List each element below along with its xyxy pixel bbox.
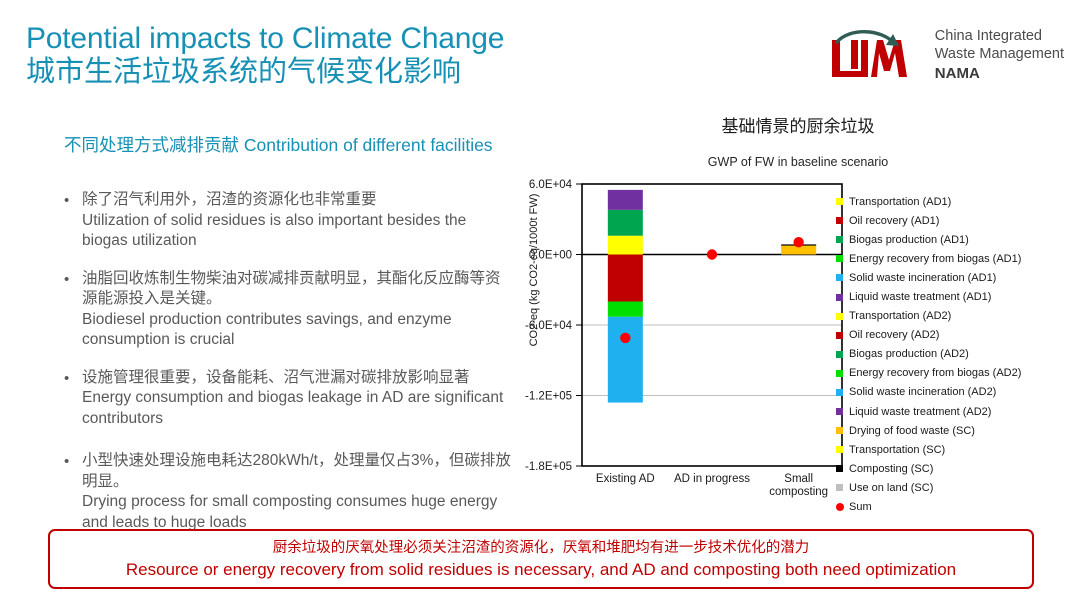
sum-marker-point bbox=[707, 249, 717, 259]
legend-item[interactable]: Solid waste incineration (AD2) bbox=[836, 383, 1068, 402]
bullet-text-en: Biodiesel production contributes savings… bbox=[82, 310, 512, 351]
page-title-en: Potential impacts to Climate Change bbox=[26, 22, 504, 56]
legend-label: Composting (SC) bbox=[849, 463, 933, 475]
chart-panel: 基础情景的厨余垃圾 GWP of FW in baseline scenario… bbox=[498, 104, 1068, 516]
bullet-text: 除了沼气利用外，沼渣的资源化也非常重要 Utilization of solid… bbox=[82, 190, 512, 252]
logo-line-1: China Integrated bbox=[935, 27, 1064, 46]
y-axis-tick-label: -1.8E+05 bbox=[525, 461, 572, 473]
section-heading: 不同处理方式减排贡献 Contribution of different fac… bbox=[64, 132, 493, 157]
bar-segment bbox=[608, 302, 643, 317]
legend-swatch-icon bbox=[836, 465, 843, 472]
legend-swatch-icon bbox=[836, 332, 843, 339]
legend-swatch-icon bbox=[836, 313, 843, 320]
legend-label: Transportation (AD2) bbox=[849, 310, 951, 322]
legend-item[interactable]: Solid waste incineration (AD1) bbox=[836, 268, 1068, 287]
legend-swatch-icon bbox=[836, 408, 843, 415]
legend-item[interactable]: Biogas production (AD2) bbox=[836, 345, 1068, 364]
legend-item[interactable]: Oil recovery (AD1) bbox=[836, 211, 1068, 230]
iwm-logo-mark-icon bbox=[815, 24, 925, 86]
legend-label: Transportation (AD1) bbox=[849, 196, 951, 208]
legend-label: Solid waste incineration (AD1) bbox=[849, 272, 996, 284]
bullet-text-zh: 除了沼气利用外，沼渣的资源化也非常重要 bbox=[82, 190, 512, 211]
bullet-text-en: Energy consumption and biogas leakage in… bbox=[82, 388, 512, 429]
bar-segment bbox=[608, 255, 643, 302]
legend-swatch-icon bbox=[836, 484, 843, 491]
legend-swatch-icon bbox=[836, 217, 843, 224]
page-title: Potential impacts to Climate Change 城市生活… bbox=[26, 22, 504, 88]
bullet-text-en: Drying process for small composting cons… bbox=[82, 492, 512, 533]
bullet-marker: • bbox=[60, 451, 82, 533]
legend-swatch-icon bbox=[836, 370, 843, 377]
bullet-text-zh: 设施管理很重要，设备能耗、沼气泄漏对碳排放影响显著 bbox=[82, 368, 512, 389]
legend-sum-marker-icon bbox=[836, 503, 844, 511]
sum-marker-point bbox=[793, 237, 803, 247]
bullet-text-en: Utilization of solid residues is also im… bbox=[82, 211, 512, 252]
bullet-text: 设施管理很重要，设备能耗、沼气泄漏对碳排放影响显著 Energy consump… bbox=[82, 368, 512, 430]
bar-segment bbox=[608, 210, 643, 236]
logo-line-3: NAMA bbox=[935, 64, 1064, 83]
chart-title: GWP of FW in baseline scenario bbox=[638, 155, 958, 169]
legend-label: Sum bbox=[849, 501, 872, 513]
y-axis-tick-label: -6.0E+04 bbox=[525, 320, 573, 332]
legend-item[interactable]: Composting (SC) bbox=[836, 459, 1068, 478]
bullet-text: 小型快速处理设施电耗达280kWh/t，处理量仅占3%，但碳排放明显。 Dryi… bbox=[82, 451, 512, 533]
chart-plot-area: 6.0E+040.0E+00-6.0E+04-1.2E+05-1.8E+05Ex… bbox=[498, 176, 848, 516]
bar-segment bbox=[608, 190, 643, 210]
legend-item[interactable]: Transportation (AD2) bbox=[836, 307, 1068, 326]
legend-item[interactable]: Oil recovery (AD2) bbox=[836, 326, 1068, 345]
legend-label: Oil recovery (AD1) bbox=[849, 215, 939, 227]
legend-item[interactable]: Use on land (SC) bbox=[836, 478, 1068, 497]
legend-label: Energy recovery from biogas (AD2) bbox=[849, 367, 1021, 379]
list-item: • 小型快速处理设施电耗达280kWh/t，处理量仅占3%，但碳排放明显。 Dr… bbox=[60, 451, 512, 533]
summary-banner: 厨余垃圾的厌氧处理必须关注沼渣的资源化，厌氧和堆肥均有进一步技术优化的潜力 Re… bbox=[48, 529, 1034, 589]
legend-label: Energy recovery from biogas (AD1) bbox=[849, 253, 1021, 265]
legend-label: Solid waste incineration (AD2) bbox=[849, 386, 996, 398]
legend-swatch-icon bbox=[836, 294, 843, 301]
legend-item[interactable]: Energy recovery from biogas (AD1) bbox=[836, 249, 1068, 268]
bullet-text: 油脂回收炼制生物柴油对碳减排贡献明显，其酯化反应酶等资源能源投入是关键。 Bio… bbox=[82, 269, 512, 351]
legend-item[interactable]: Drying of food waste (SC) bbox=[836, 421, 1068, 440]
y-axis-tick-label: -1.2E+05 bbox=[525, 391, 572, 403]
legend-item[interactable]: Liquid waste treatment (AD2) bbox=[836, 402, 1068, 421]
legend-swatch-icon bbox=[836, 389, 843, 396]
legend-label: Transportation (SC) bbox=[849, 444, 945, 456]
bullet-text-zh: 油脂回收炼制生物柴油对碳减排贡献明显，其酯化反应酶等资源能源投入是关键。 bbox=[82, 269, 512, 310]
legend-label: Liquid waste treatment (AD2) bbox=[849, 406, 991, 418]
banner-text-en: Resource or energy recovery from solid r… bbox=[126, 558, 956, 581]
chart-title-zh: 基础情景的厨余垃圾 bbox=[648, 112, 948, 137]
bullet-text-zh: 小型快速处理设施电耗达280kWh/t，处理量仅占3%，但碳排放明显。 bbox=[82, 451, 512, 492]
x-axis-category-label: composting bbox=[769, 486, 828, 498]
bullet-list: • 除了沼气利用外，沼渣的资源化也非常重要 Utilization of sol… bbox=[60, 190, 512, 550]
legend-label: Biogas production (AD1) bbox=[849, 234, 969, 246]
bullet-marker: • bbox=[60, 190, 82, 252]
legend-item[interactable]: Transportation (SC) bbox=[836, 440, 1068, 459]
legend-item[interactable]: Liquid waste treatment (AD1) bbox=[836, 287, 1068, 306]
bullet-marker: • bbox=[60, 269, 82, 351]
legend-label: Liquid waste treatment (AD1) bbox=[849, 291, 991, 303]
brand-logo: China Integrated Waste Management NAMA bbox=[815, 24, 1064, 86]
legend-swatch-icon bbox=[836, 427, 843, 434]
legend-swatch-icon bbox=[836, 255, 843, 262]
legend-label: Drying of food waste (SC) bbox=[849, 425, 975, 437]
x-axis-category-label: Small bbox=[784, 473, 813, 485]
legend-label: Oil recovery (AD2) bbox=[849, 329, 939, 341]
y-axis-tick-label: 0.0E+00 bbox=[529, 250, 572, 262]
brand-logo-text: China Integrated Waste Management NAMA bbox=[935, 27, 1064, 83]
y-axis-tick-label: 6.0E+04 bbox=[529, 179, 573, 191]
x-axis-category-label: AD in progress bbox=[674, 473, 750, 485]
banner-text-zh: 厨余垃圾的厌氧处理必须关注沼渣的资源化，厌氧和堆肥均有进一步技术优化的潜力 bbox=[273, 538, 810, 558]
legend-item[interactable]: Transportation (AD1) bbox=[836, 192, 1068, 211]
x-axis-category-label: Existing AD bbox=[596, 473, 655, 485]
legend-label: Biogas production (AD2) bbox=[849, 348, 969, 360]
bar-segment bbox=[608, 236, 643, 255]
legend-swatch-icon bbox=[836, 198, 843, 205]
sum-marker-point bbox=[620, 333, 630, 343]
legend-label: Use on land (SC) bbox=[849, 482, 933, 494]
legend-swatch-icon bbox=[836, 351, 843, 358]
list-item: • 油脂回收炼制生物柴油对碳减排贡献明显，其酯化反应酶等资源能源投入是关键。 B… bbox=[60, 269, 512, 351]
legend-swatch-icon bbox=[836, 236, 843, 243]
legend-item[interactable]: Sum bbox=[836, 498, 1068, 517]
list-item: • 除了沼气利用外，沼渣的资源化也非常重要 Utilization of sol… bbox=[60, 190, 512, 252]
legend-swatch-icon bbox=[836, 446, 843, 453]
legend-item[interactable]: Biogas production (AD1) bbox=[836, 230, 1068, 249]
bar-segment bbox=[608, 317, 643, 403]
list-item: • 设施管理很重要，设备能耗、沼气泄漏对碳排放影响显著 Energy consu… bbox=[60, 368, 512, 430]
legend-item[interactable]: Energy recovery from biogas (AD2) bbox=[836, 364, 1068, 383]
bullet-marker: • bbox=[60, 368, 82, 430]
legend-swatch-icon bbox=[836, 274, 843, 281]
logo-line-2: Waste Management bbox=[935, 45, 1064, 64]
chart-legend: Transportation (AD1)Oil recovery (AD1)Bi… bbox=[836, 192, 1068, 517]
page-title-zh: 城市生活垃圾系统的气候变化影响 bbox=[26, 56, 504, 88]
